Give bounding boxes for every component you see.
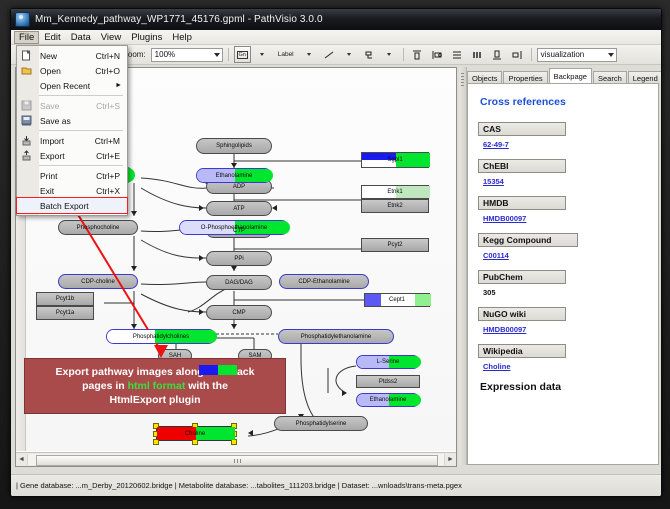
xref-pubchem: PubChem 305 (478, 270, 648, 297)
status-bar: | Gene database: ...m_Derby_20120602.bri… (11, 474, 661, 496)
node-sphingolipids[interactable]: Sphingolipids (196, 138, 272, 154)
scroll-right-icon[interactable]: ► (445, 454, 456, 465)
annotation-line-2b: with the (185, 380, 228, 392)
menu-item-save: Save Ctrl+S (17, 98, 127, 113)
xref-wikipedia: Wikipedia Choline (478, 344, 648, 371)
menu-item-save-label: Save (40, 101, 59, 111)
xref-wikipedia-value[interactable]: Choline (483, 362, 648, 371)
xref-hmdb-value[interactable]: HMDB00097 (483, 214, 648, 223)
new-file-icon (21, 50, 32, 61)
menu-item-save-as[interactable]: Save as (17, 113, 127, 128)
menu-item-export-label: Export (40, 151, 65, 161)
menu-data[interactable]: Data (66, 31, 96, 44)
chevron-down-icon-2 (608, 53, 614, 57)
sidebar-tabstrip: Objects Properties Backpage Search Legen… (467, 70, 657, 84)
label-icon[interactable]: Label (274, 46, 298, 63)
node-ethanolamine2[interactable]: Ethanolamine (356, 393, 420, 407)
menu-item-open-label: Open (40, 66, 61, 76)
screenshot-root: Mm_Kennedy_pathway_WP1771_45176.gpml - P… (0, 0, 670, 509)
file-menu-dropdown: New Ctrl+N Open Ctrl+O Open Recent ► Sav… (16, 45, 128, 216)
scroll-grip (234, 459, 241, 463)
scroll-thumb[interactable] (36, 455, 437, 466)
menu-item-batch-export[interactable]: Batch Export (17, 198, 127, 213)
status-text: | Gene database: ...m_Derby_20120602.bri… (16, 481, 462, 490)
menu-item-new-label: New (40, 51, 57, 61)
node-pcyt1a[interactable]: Pcyt1a (36, 306, 94, 320)
arrowhead-ophospho-down (231, 266, 237, 271)
window-title: Mm_Kennedy_pathway_WP1771_45176.gpml - P… (35, 14, 323, 25)
node-phosphatidylserine[interactable]: Phosphatidylserine (274, 416, 368, 431)
align-stack-icon[interactable] (449, 46, 466, 63)
distribute-icon[interactable] (469, 46, 486, 63)
export-icon (21, 150, 32, 161)
zoom-combo[interactable]: 100% (151, 48, 223, 62)
node-cdpcholine[interactable]: CDP-choline (58, 274, 138, 289)
interaction-icon[interactable] (361, 46, 378, 63)
pathvisio-window: Mm_Kennedy_pathway_WP1771_45176.gpml - P… (10, 8, 662, 497)
canvas-hscrollbar[interactable]: ◄ ► (16, 452, 456, 466)
node-lserine[interactable]: L-Serine (356, 355, 420, 369)
menu-item-open-accel: Ctrl+O (95, 66, 127, 76)
pemt-blue-half (199, 365, 218, 375)
menu-separator-1 (39, 95, 123, 96)
interaction-dropdown-icon[interactable] (381, 46, 398, 63)
node-ptdss2[interactable]: Ptdss2 (356, 375, 420, 388)
menu-item-batch-export-label: Batch Export (40, 201, 89, 211)
visualization-combo[interactable]: visualization (537, 48, 617, 62)
align-left-icon[interactable] (429, 46, 446, 63)
align-right-icon[interactable] (509, 46, 526, 63)
xref-pubchem-value: 305 (483, 288, 648, 297)
xref-kegg-label: Kegg Compound (478, 233, 578, 247)
scroll-left-icon[interactable]: ◄ (16, 454, 27, 465)
node-pcyt2[interactable]: Pcyt2 (361, 238, 429, 252)
toolbar-separator (228, 48, 229, 61)
cross-references-title: Cross references (480, 96, 648, 108)
chevron-right-icon: ► (115, 82, 127, 89)
menu-item-new[interactable]: New Ctrl+N (17, 48, 127, 63)
zoom-value: 100% (155, 50, 175, 59)
xref-chebi-label: ChEBI (478, 159, 566, 173)
menu-item-open-recent-label: Open Recent (40, 81, 90, 91)
arrowhead-to-eth2 (342, 390, 347, 396)
toolbar-separator-3 (531, 48, 532, 61)
node-phosphocholine[interactable]: Phosphocholine (58, 220, 138, 235)
menu-help[interactable]: Help (167, 31, 197, 44)
datanode-dropdown-icon[interactable] (254, 46, 271, 63)
save-disk-icon (21, 100, 32, 111)
menu-item-save-accel: Ctrl+S (96, 101, 127, 111)
align-bottom-icon[interactable] (489, 46, 506, 63)
menu-item-save-as-label: Save as (40, 116, 71, 126)
annotation-line-2a: pages in (82, 380, 128, 392)
xref-wikipedia-label: Wikipedia (478, 344, 566, 358)
arrowhead-to-cmp (199, 309, 204, 315)
line-icon[interactable] (321, 46, 338, 63)
menu-item-import-label: Import (40, 136, 64, 146)
menu-view[interactable]: View (96, 31, 126, 44)
xref-kegg: Kegg Compound C00114 (478, 233, 648, 260)
right-sidebar: Objects Properties Backpage Search Legen… (459, 67, 657, 465)
menu-item-export[interactable]: Export Ctrl+E (17, 148, 127, 163)
xref-cas: CAS 62-49-7 (478, 122, 648, 149)
node-ppi[interactable]: PPi (206, 251, 272, 266)
node-cmp[interactable]: CMP (206, 305, 272, 320)
menu-item-open-recent[interactable]: Open Recent ► (17, 78, 127, 93)
menu-item-import[interactable]: Import Ctrl+M (17, 133, 127, 148)
scroll-track[interactable] (27, 454, 445, 465)
xref-nugo-value[interactable]: HMDB00097 (483, 325, 648, 334)
xref-hmdb-label: HMDB (478, 196, 566, 210)
menu-edit[interactable]: Edit (39, 31, 65, 44)
arrowhead-phosphocholine-down (131, 266, 137, 271)
node-cdpethanolamine[interactable]: CDP-Ethanolamine (279, 274, 369, 289)
menu-item-exit-label: Exit (40, 186, 54, 196)
expression-data-title: Expression data (480, 381, 648, 393)
arrowhead-to-choline-sel (248, 430, 253, 436)
node-ethanolamine[interactable]: Ethanolamine (196, 168, 272, 183)
open-folder-icon (21, 65, 32, 76)
menu-plugins[interactable]: Plugins (126, 31, 167, 44)
tab-backpage[interactable]: Backpage (549, 68, 592, 84)
menu-item-print[interactable]: Print Ctrl+P (17, 168, 127, 183)
node-phosphatidylethanolamine[interactable]: Phosphatidylethanolamine (278, 329, 394, 344)
xref-pubchem-label: PubChem (478, 270, 566, 284)
datanode-icon[interactable]: Gn (234, 46, 251, 63)
menu-separator-2 (39, 130, 123, 131)
xref-cas-value[interactable]: 62-49-7 (483, 140, 648, 149)
node-etnk2[interactable]: Etnk2 (361, 199, 429, 213)
menu-item-exit-accel: Ctrl+X (96, 186, 127, 196)
node-pcyt1b[interactable]: Pcyt1b (36, 292, 94, 306)
node-dagdag[interactable]: DAG/DAG (206, 275, 272, 290)
xref-hmdb: HMDB HMDB00097 (478, 196, 648, 223)
xref-chebi-value[interactable]: 15354 (483, 177, 648, 186)
xref-kegg-value[interactable]: C00114 (483, 251, 648, 260)
node-cept1[interactable]: Cept1 (364, 293, 430, 307)
arrowhead-atp-left (272, 205, 277, 211)
menu-file[interactable]: File (14, 31, 39, 44)
node-atp[interactable]: ATP (206, 201, 272, 216)
cept1-blue-half (365, 294, 381, 306)
menu-separator-3 (39, 165, 123, 166)
menu-item-exit[interactable]: Exit Ctrl+X (17, 183, 127, 198)
node-phosphatidylcholines[interactable]: Phosphatidylcholines (106, 329, 216, 344)
menu-item-import-accel: Ctrl+M (95, 136, 127, 146)
toolbar-separator-2 (403, 48, 404, 61)
import-icon (21, 135, 32, 146)
chevron-down-icon (214, 53, 220, 57)
line-dropdown-icon[interactable] (341, 46, 358, 63)
visualization-value: visualization (541, 50, 585, 59)
annotation-callout: Export pathway images along with back pa… (24, 358, 286, 414)
node-choline-selected[interactable]: Choline (156, 426, 234, 441)
save-as-icon (21, 115, 32, 126)
node-sgpl1[interactable]: Sgpl1 (361, 152, 429, 168)
menu-item-new-accel: Ctrl+N (96, 51, 127, 61)
align-top-icon[interactable] (409, 46, 426, 63)
node-pemt[interactable] (198, 364, 236, 376)
arrowhead-to-ppi (199, 255, 204, 261)
menu-item-print-accel: Ctrl+P (96, 171, 127, 181)
arrowhead-to-atp (199, 205, 204, 211)
label-dropdown-icon[interactable] (301, 46, 318, 63)
arrowhead-choline-down (131, 211, 137, 216)
cept1-green-half (415, 294, 431, 306)
annotation-highlight: html format (128, 380, 186, 392)
menu-item-print-label: Print (40, 171, 57, 181)
menu-bar: File Edit Data View Plugins Help (11, 30, 661, 45)
xref-cas-label: CAS (478, 122, 566, 136)
xref-chebi: ChEBI 15354 (478, 159, 648, 186)
pemt-green-half (218, 365, 237, 375)
xref-nugo: NuGO wiki HMDB00097 (478, 307, 648, 334)
arrowhead-cdpeth-down (231, 324, 237, 329)
sidebar-splitter[interactable] (459, 67, 467, 465)
annotation-line-3: HtmlExport plugin (110, 394, 201, 406)
pathvisio-app-icon (15, 12, 30, 27)
menu-item-open[interactable]: Open Ctrl+O (17, 63, 127, 78)
xref-nugo-label: NuGO wiki (478, 307, 566, 321)
backpage-panel: Cross references CAS 62-49-7 ChEBI 15354… (467, 83, 659, 465)
title-bar: Mm_Kennedy_pathway_WP1771_45176.gpml - P… (11, 9, 661, 30)
node-etnk1[interactable]: Etnk1 (361, 185, 429, 199)
menu-item-export-accel: Ctrl+E (96, 151, 127, 161)
